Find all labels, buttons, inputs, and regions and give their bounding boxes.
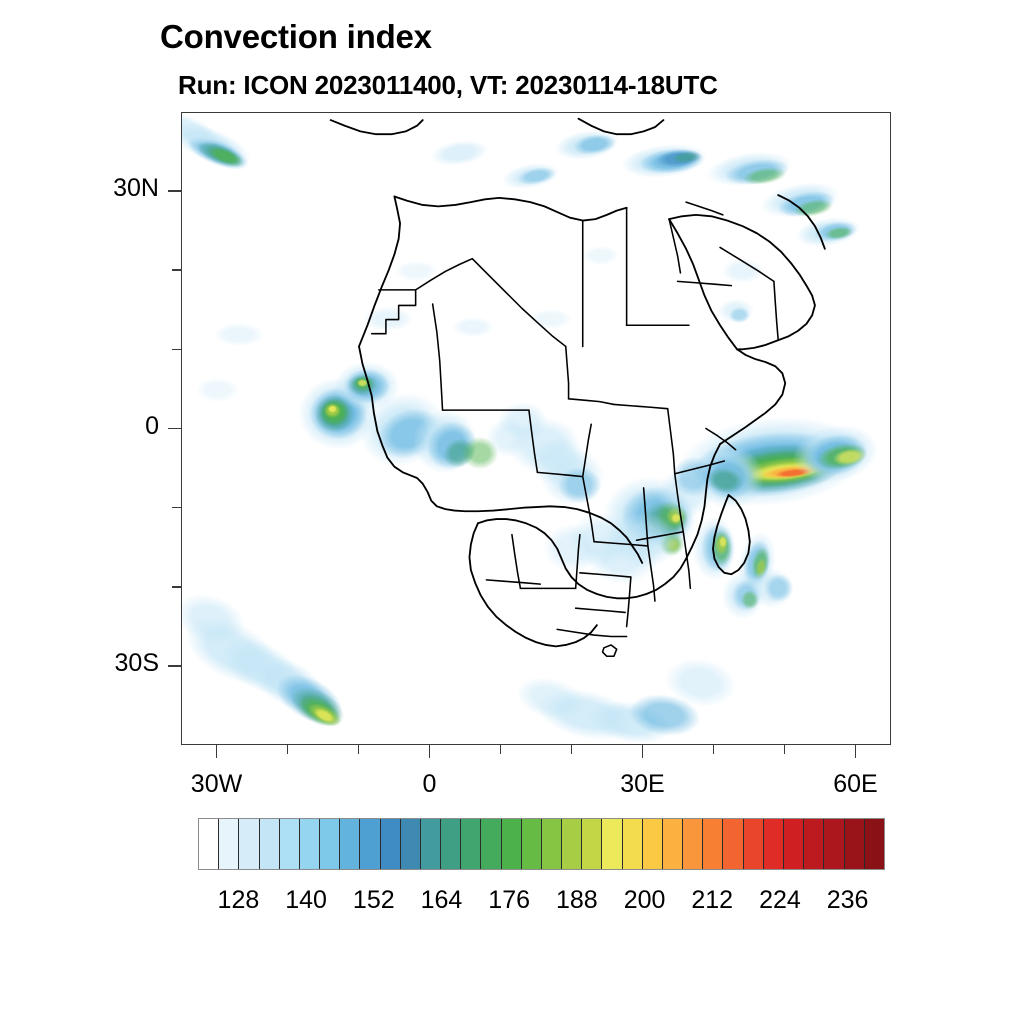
colorbar-cell bbox=[643, 819, 663, 869]
y-tick-minor bbox=[172, 586, 181, 588]
y-tick-minor bbox=[172, 269, 181, 271]
x-tick-minor bbox=[358, 745, 360, 754]
colorbar-cell bbox=[360, 819, 380, 869]
y-axis-label: 30S bbox=[115, 649, 159, 678]
colorbar-cell bbox=[723, 819, 743, 869]
x-tick-major bbox=[429, 745, 431, 758]
colorbar-cell bbox=[340, 819, 360, 869]
colorbar-cell bbox=[300, 819, 320, 869]
y-tick-major bbox=[168, 665, 181, 667]
colorbar-cell bbox=[260, 819, 280, 869]
colorbar-cell bbox=[663, 819, 683, 869]
colorbar-cell bbox=[381, 819, 401, 869]
x-tick-major bbox=[855, 745, 857, 758]
colorbar-tick-label: 236 bbox=[798, 886, 898, 915]
y-tick-minor bbox=[172, 507, 181, 509]
y-tick-major bbox=[168, 190, 181, 192]
x-axis-label: 60E bbox=[796, 770, 916, 799]
colorbar-cell bbox=[280, 819, 300, 869]
colorbar-cell bbox=[744, 819, 764, 869]
colorbar-cell bbox=[461, 819, 481, 869]
y-tick-minor bbox=[172, 349, 181, 351]
y-tick-major bbox=[168, 428, 181, 430]
colorbar-cell bbox=[784, 819, 804, 869]
colorbar-cell bbox=[441, 819, 461, 869]
country-border-paths bbox=[372, 202, 778, 656]
x-tick-minor bbox=[713, 745, 715, 754]
colorbar-cell bbox=[542, 819, 562, 869]
colorbar-cell bbox=[401, 819, 421, 869]
colorbar-cell bbox=[421, 819, 441, 869]
colorbar-cell bbox=[824, 819, 844, 869]
colorbar-cell bbox=[683, 819, 703, 869]
colorbar-cell bbox=[502, 819, 522, 869]
x-tick-minor bbox=[571, 745, 573, 754]
map-plot-area bbox=[181, 112, 891, 745]
colorbar-cell bbox=[481, 819, 501, 869]
colorbar-cell bbox=[623, 819, 643, 869]
colorbar-cell bbox=[199, 819, 219, 869]
x-tick-minor bbox=[500, 745, 502, 754]
colorbar-cell bbox=[239, 819, 259, 869]
x-axis-label: 30W bbox=[157, 770, 277, 799]
colorbar-cell bbox=[764, 819, 784, 869]
page-subtitle: Run: ICON 2023011400, VT: 20230114-18UTC bbox=[178, 70, 718, 101]
x-tick-minor bbox=[287, 745, 289, 754]
map-geography-layer bbox=[182, 113, 890, 744]
colorbar-cell bbox=[845, 819, 865, 869]
colorbar-cell bbox=[320, 819, 340, 869]
x-tick-minor bbox=[784, 745, 786, 754]
colorbar-cell bbox=[703, 819, 723, 869]
colorbar[interactable] bbox=[198, 818, 885, 870]
x-tick-major bbox=[216, 745, 218, 758]
y-axis-label: 0 bbox=[145, 412, 159, 441]
y-axis-label: 30N bbox=[113, 174, 159, 203]
colorbar-cell bbox=[804, 819, 824, 869]
colorbar-cell bbox=[562, 819, 582, 869]
colorbar-cell bbox=[602, 819, 622, 869]
colorbar-cell bbox=[582, 819, 602, 869]
x-axis-label: 0 bbox=[370, 770, 490, 799]
x-tick-major bbox=[642, 745, 644, 758]
colorbar-cell bbox=[522, 819, 542, 869]
x-axis-label: 30E bbox=[583, 770, 703, 799]
colorbar-cell bbox=[219, 819, 239, 869]
page-title: Convection index bbox=[160, 18, 432, 56]
colorbar-cell bbox=[865, 819, 884, 869]
